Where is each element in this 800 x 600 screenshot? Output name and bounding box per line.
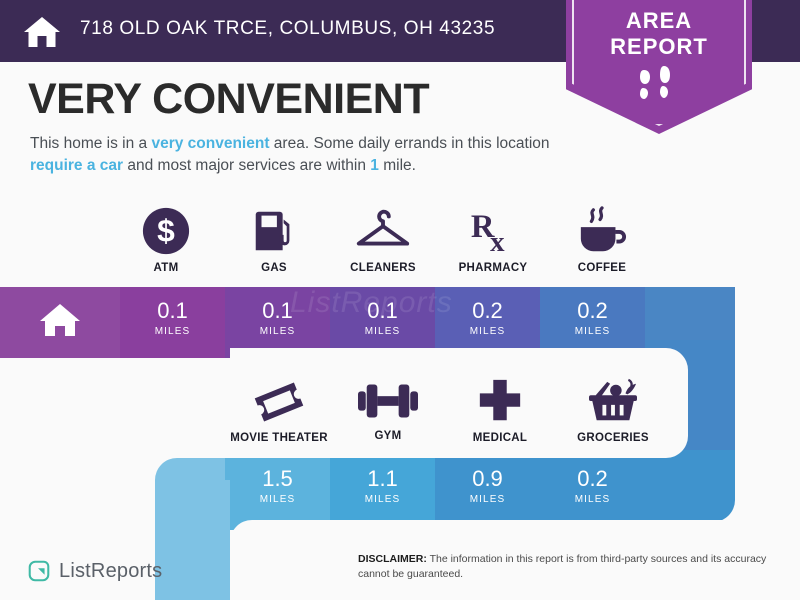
- category-groceries: GROCERIES: [560, 378, 666, 444]
- bar-segment-atm: [120, 287, 225, 358]
- grocery-basket-icon: [586, 378, 640, 426]
- category-gas: GAS: [226, 206, 322, 274]
- bar-segment-groceries-tail: [540, 450, 745, 530]
- pharmacy-rx-icon: R x: [467, 206, 519, 256]
- movie-ticket-icon: [252, 378, 306, 426]
- category-label: CLEANERS: [330, 262, 436, 274]
- category-atm: $ ATM: [118, 206, 214, 274]
- area-report-badge: AREA REPORT: [566, 0, 752, 134]
- category-coffee: COFFEE: [552, 206, 652, 274]
- category-label: GAS: [226, 262, 322, 274]
- category-label: COFFEE: [552, 262, 652, 274]
- property-address: 718 OLD OAK TRCE, COLUMBUS, OH 43235: [80, 18, 495, 40]
- desc-text-4: mile.: [379, 157, 416, 174]
- desc-highlight-1: very convenient: [151, 135, 269, 152]
- category-label: PHARMACY: [438, 262, 548, 274]
- category-pharmacy: R x PHARMACY: [438, 206, 548, 274]
- category-medical: MEDICAL: [450, 378, 550, 444]
- category-label: ATM: [118, 262, 214, 274]
- dumbbell-icon: [358, 378, 418, 424]
- atm-dollar-icon: $: [141, 206, 191, 256]
- gas-pump-icon: [249, 206, 299, 256]
- category-label: MOVIE THEATER: [226, 432, 332, 444]
- bar-segment-groceries: [435, 450, 540, 530]
- desc-text-1: This home is in a: [30, 135, 151, 152]
- svg-text:$: $: [157, 213, 175, 249]
- desc-text-2: area. Some daily errands in this locatio…: [270, 135, 550, 152]
- desc-highlight-2: require a car: [30, 157, 123, 174]
- category-label: MEDICAL: [450, 432, 550, 444]
- desc-highlight-3: 1: [370, 157, 379, 174]
- logo-text: ListReports: [59, 560, 162, 583]
- category-label: GROCERIES: [560, 432, 666, 444]
- footprints-icon: [637, 66, 681, 109]
- listreports-logo[interactable]: ListReports: [26, 558, 162, 584]
- coffee-cup-icon: [574, 206, 630, 256]
- home-icon: [22, 12, 62, 52]
- medical-cross-icon: [476, 378, 524, 426]
- bar-segment-gym: [225, 450, 330, 530]
- disclaimer-label: DISCLAIMER:: [358, 553, 427, 565]
- area-report-infographic: 718 OLD OAK TRCE, COLUMBUS, OH 43235 ARE…: [0, 0, 800, 600]
- page-title: VERY CONVENIENT: [28, 75, 429, 124]
- badge-line1: AREA: [566, 8, 752, 34]
- clothes-hanger-icon: [353, 206, 413, 256]
- disclaimer: DISCLAIMER: The information in this repo…: [358, 552, 783, 582]
- category-movie-theater: MOVIE THEATER: [226, 378, 332, 444]
- svg-text:x: x: [490, 226, 505, 256]
- desc-text-3: and most major services are within: [123, 157, 370, 174]
- category-label: GYM: [340, 430, 436, 442]
- category-gym: GYM: [340, 378, 436, 442]
- listreports-tag-icon: [26, 558, 52, 584]
- summary-description: This home is in a very convenient area. …: [30, 133, 560, 177]
- bar-segment-medical: [330, 450, 435, 530]
- bar-home-icon: [38, 300, 82, 345]
- category-cleaners: CLEANERS: [330, 206, 436, 274]
- badge-line2: REPORT: [566, 34, 752, 60]
